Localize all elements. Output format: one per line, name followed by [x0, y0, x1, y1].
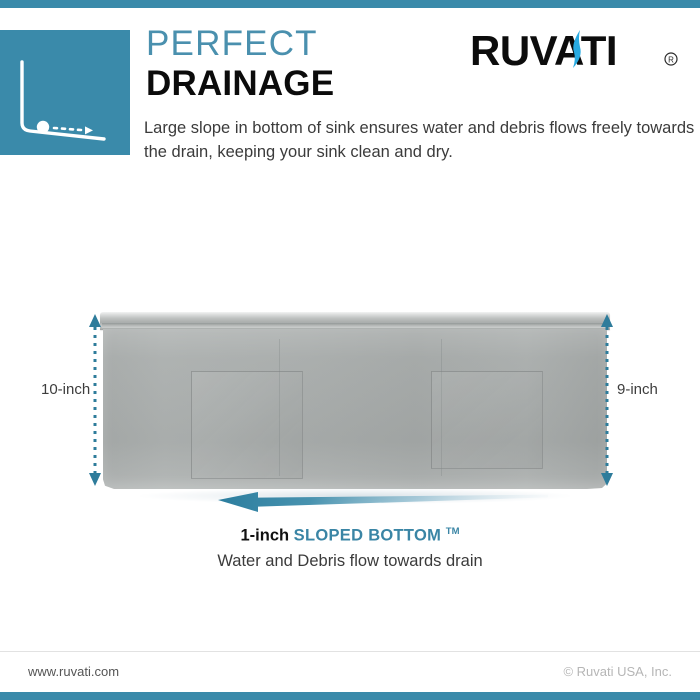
- sink-basin: [103, 329, 607, 489]
- sound-dampening-pad-right: [431, 371, 543, 469]
- trademark-symbol: TM: [446, 526, 460, 537]
- footer-divider: [0, 651, 700, 652]
- page-title: PERFECT DRAINAGE: [146, 24, 476, 104]
- slope-caption: 1-inch SLOPED BOTTOM TM Water and Debris…: [0, 520, 700, 574]
- slope-feature-name: SLOPED BOTTOM: [294, 527, 442, 545]
- svg-text:R: R: [668, 55, 674, 64]
- sink-rim-lip: [102, 323, 608, 328]
- sink-side-view-illustration: [100, 312, 610, 492]
- slope-caption-primary: 1-inch SLOPED BOTTOM TM: [0, 520, 700, 548]
- logo-wordmark: RUVATI: [470, 28, 617, 74]
- bottom-brand-bar: [0, 692, 700, 700]
- left-dimension-arrow: [88, 314, 102, 486]
- slope-measure: 1-inch: [240, 527, 289, 545]
- footer-copyright: © Ruvati USA, Inc.: [563, 664, 672, 679]
- flow-direction-arrow: [218, 492, 548, 518]
- right-dimension-label: 9-inch: [617, 381, 658, 398]
- footer-website[interactable]: www.ruvati.com: [28, 664, 119, 679]
- sink-rim: [100, 312, 610, 330]
- sound-dampening-pad-left: [191, 371, 303, 479]
- right-dimension-arrow: [600, 314, 614, 486]
- ruvati-logo: RUVATI R: [470, 28, 685, 76]
- slope-caption-secondary: Water and Debris flow towards drain: [0, 549, 700, 574]
- title-line-perfect: PERFECT: [146, 24, 476, 64]
- title-line-drainage: DRAINAGE: [146, 64, 476, 104]
- header-description: Large slope in bottom of sink ensures wa…: [144, 116, 696, 164]
- left-dimension-label: 10-inch: [41, 381, 90, 398]
- sloped-sink-cross-section-icon: [0, 30, 130, 155]
- top-brand-bar: [0, 0, 700, 8]
